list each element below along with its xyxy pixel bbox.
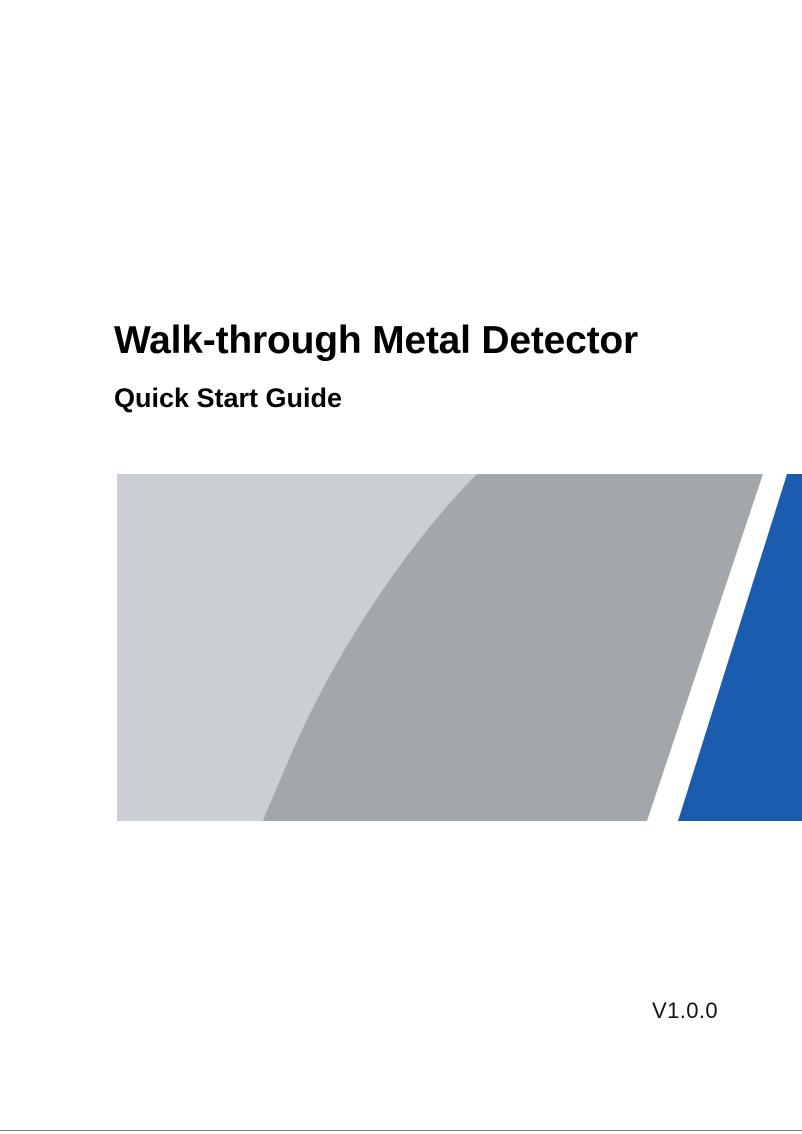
cover-banner-svg (117, 474, 802, 821)
title-block: Walk-through Metal Detector Quick Start … (114, 318, 734, 414)
version-label: V1.0.0 (652, 998, 718, 1024)
page-subtitle: Quick Start Guide (114, 382, 734, 414)
page-bottom-rule (0, 1130, 802, 1131)
page-title: Walk-through Metal Detector (114, 318, 734, 364)
cover-page: Walk-through Metal Detector Quick Start … (0, 0, 802, 1134)
cover-banner-graphic (117, 474, 802, 821)
